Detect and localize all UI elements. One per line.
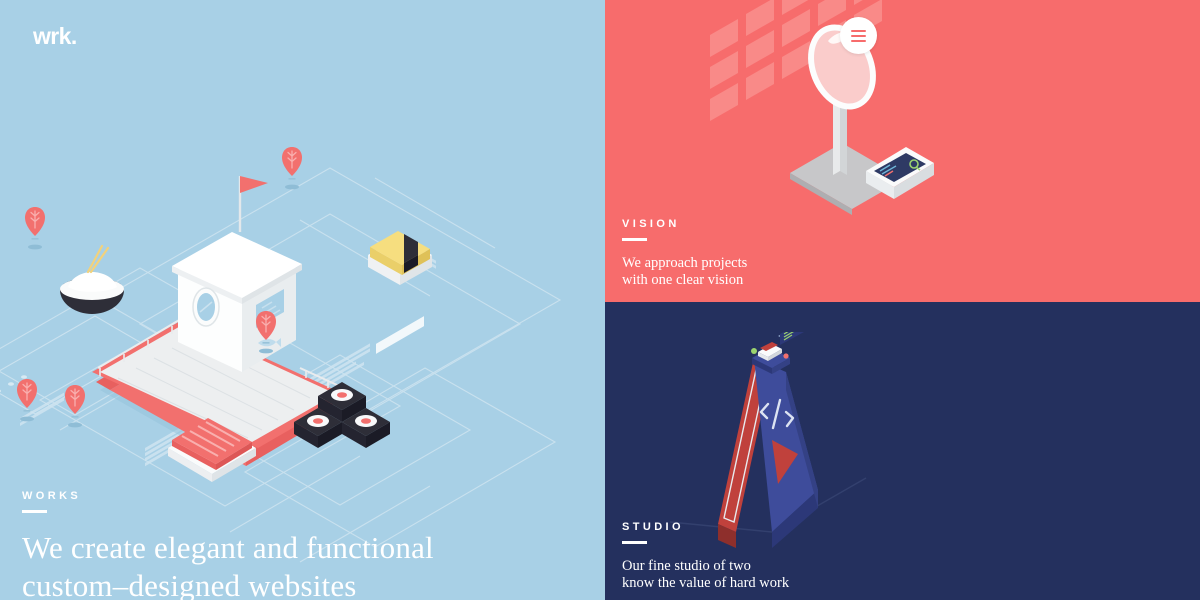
works-heading: We create elegant and functional custom–… (22, 529, 582, 600)
studio-text-block: STUDIO Our fine studio of two know the v… (622, 521, 902, 592)
vision-body-line-1: We approach projects (622, 255, 747, 271)
map-pin (25, 207, 45, 249)
studio-body-line-1: Our fine studio of two (622, 558, 751, 574)
studio-eyebrow-rule (622, 541, 647, 544)
vision-body: We approach projects with one clear visi… (622, 255, 882, 289)
works-panel: wrk. WORKS We create elegant and functio… (0, 0, 605, 600)
page-root: wrk. WORKS We create elegant and functio… (0, 0, 1200, 600)
works-text-block: WORKS We create elegant and functional c… (22, 490, 582, 600)
map-pin (282, 147, 302, 189)
site-logo[interactable]: wrk. (33, 23, 77, 50)
vision-eyebrow-rule (622, 238, 647, 241)
rice-bowl (60, 246, 124, 314)
works-eyebrow: WORKS (22, 490, 582, 502)
studio-body: Our fine studio of two know the value of… (622, 558, 902, 592)
studio-body-line-2: know the value of hard work (622, 575, 789, 591)
tamago-sushi (368, 231, 432, 285)
hamburger-icon-bar (851, 30, 866, 32)
hamburger-icon-bar (851, 35, 866, 37)
studio-illustration (660, 332, 960, 552)
works-eyebrow-rule (22, 510, 47, 513)
vision-text-block: VISION We approach projects with one cle… (622, 218, 882, 289)
hamburger-icon-bar (851, 40, 866, 42)
vision-body-line-2: with one clear vision (622, 272, 743, 288)
works-heading-line-1: We create elegant and functional (22, 530, 434, 565)
works-heading-line-2: custom–designed websites (22, 568, 357, 600)
studio-eyebrow: STUDIO (622, 521, 902, 533)
vision-eyebrow: VISION (622, 218, 882, 230)
hamburger-menu-button[interactable] (840, 17, 877, 54)
